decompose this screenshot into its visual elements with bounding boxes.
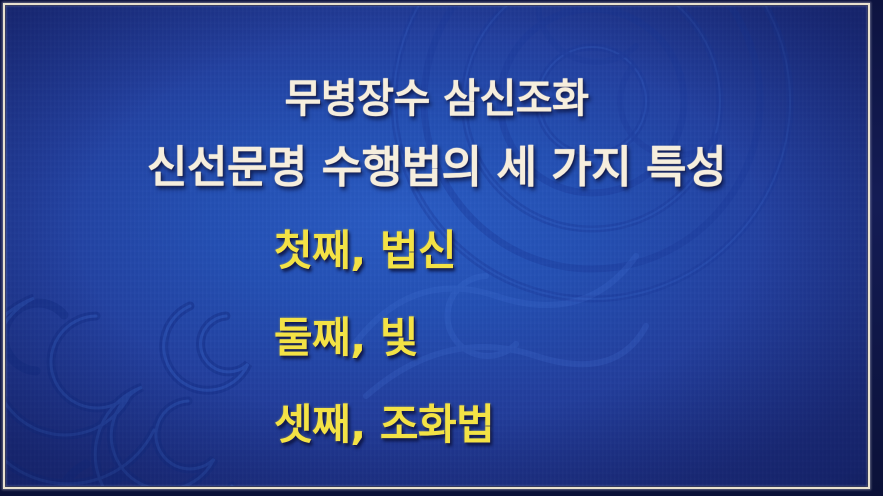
slide-border-rule [3,3,870,489]
presentation-slide: 무병장수 삼신조화 신선문명 수행법의 세 가지 특성 첫째, 법신 둘째, 빛… [0,0,883,496]
